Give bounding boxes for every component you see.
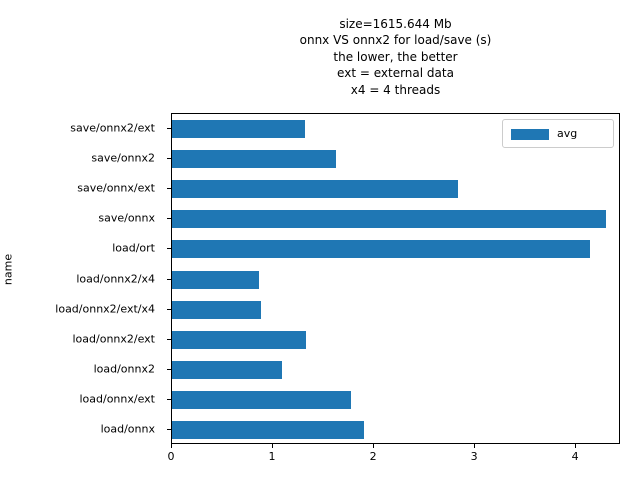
chart-title-line: x4 = 4 threads bbox=[171, 82, 620, 98]
y-axis-tick-mark bbox=[167, 158, 171, 159]
bar bbox=[172, 421, 364, 439]
x-axis-tick-label: 3 bbox=[459, 450, 489, 463]
bar bbox=[172, 210, 606, 228]
legend-swatch-avg bbox=[511, 129, 549, 140]
y-axis-tick-label: save/onnx2 bbox=[0, 152, 163, 165]
plot-area bbox=[171, 113, 620, 444]
y-axis-tick-mark bbox=[167, 309, 171, 310]
bar bbox=[172, 331, 306, 349]
y-axis-tick-mark bbox=[167, 279, 171, 280]
x-axis-tick-mark bbox=[474, 444, 475, 448]
y-axis-tick-mark bbox=[167, 399, 171, 400]
y-axis-tick-mark bbox=[167, 128, 171, 129]
y-axis-tick-mark bbox=[167, 188, 171, 189]
chart-title-line: ext = external data bbox=[171, 65, 620, 81]
y-axis-tick-mark bbox=[167, 218, 171, 219]
x-axis-tick-label: 2 bbox=[358, 450, 388, 463]
y-axis-tick-label: load/onnx bbox=[0, 422, 163, 435]
y-axis-tick-label: load/onnx2/x4 bbox=[0, 272, 163, 285]
y-axis-tick-label: load/onnx2 bbox=[0, 362, 163, 375]
x-axis-tick-mark bbox=[373, 444, 374, 448]
bar bbox=[172, 361, 282, 379]
bar bbox=[172, 301, 261, 319]
bar bbox=[172, 120, 305, 138]
x-axis-tick-label: 4 bbox=[560, 450, 590, 463]
y-axis-tick-label: save/onnx/ext bbox=[0, 182, 163, 195]
x-axis-tick-mark bbox=[575, 444, 576, 448]
x-axis-tick-label: 1 bbox=[257, 450, 287, 463]
y-axis-tick-mark bbox=[167, 429, 171, 430]
chart-title-line: the lower, the better bbox=[171, 49, 620, 65]
bar bbox=[172, 180, 458, 198]
bar bbox=[172, 391, 351, 409]
chart-figure: size=1615.644 Mb onnx VS onnx2 for load/… bbox=[0, 0, 640, 480]
chart-title-line: onnx VS onnx2 for load/save (s) bbox=[171, 32, 620, 48]
x-axis-tick-mark bbox=[272, 444, 273, 448]
bar bbox=[172, 150, 336, 168]
y-axis-tick-mark bbox=[167, 369, 171, 370]
y-axis-tick-label: load/onnx/ext bbox=[0, 392, 163, 405]
y-axis-tick-label: save/onnx bbox=[0, 212, 163, 225]
y-axis-tick-label: load/ort bbox=[0, 242, 163, 255]
bar bbox=[172, 240, 590, 258]
chart-title: size=1615.644 Mb onnx VS onnx2 for load/… bbox=[171, 16, 620, 98]
y-axis-tick-label: save/onnx2/ext bbox=[0, 122, 163, 135]
x-axis-tick-mark bbox=[171, 444, 172, 448]
y-axis-tick-mark bbox=[167, 248, 171, 249]
y-axis-label: name bbox=[2, 250, 15, 290]
y-axis-tick-label: load/onnx2/ext/x4 bbox=[0, 302, 163, 315]
x-axis-tick-label: 0 bbox=[156, 450, 186, 463]
y-axis-tick-mark bbox=[167, 339, 171, 340]
chart-legend: avg bbox=[502, 119, 614, 148]
y-axis-tick-label: load/onnx2/ext bbox=[0, 332, 163, 345]
chart-title-line: size=1615.644 Mb bbox=[171, 16, 620, 32]
legend-label-avg: avg bbox=[557, 127, 577, 140]
bar bbox=[172, 271, 259, 289]
